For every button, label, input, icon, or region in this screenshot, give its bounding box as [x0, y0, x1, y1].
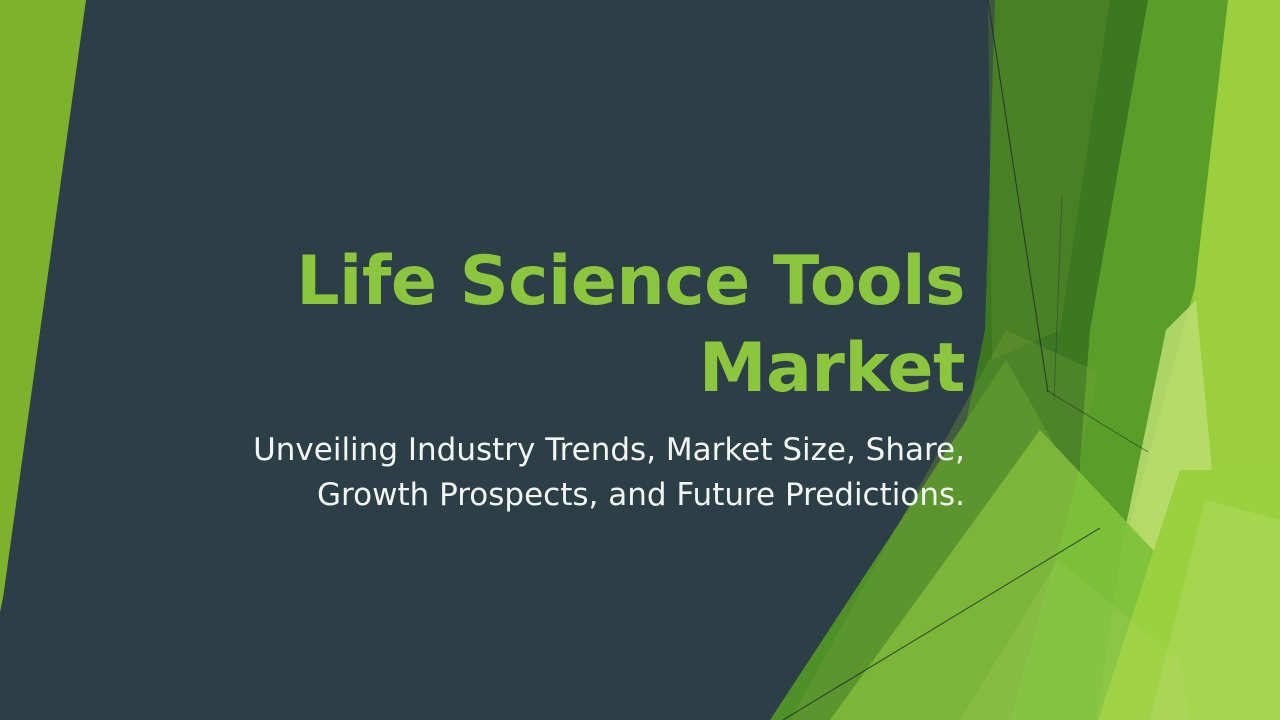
page-title: Life Science Tools Market — [150, 238, 965, 412]
presentation-slide: Life Science Tools Market Unveiling Indu… — [0, 0, 1280, 720]
slide-text-block: Life Science Tools Market Unveiling Indu… — [150, 238, 965, 519]
slide-subtitle: Unveiling Industry Trends, Market Size, … — [150, 428, 965, 519]
